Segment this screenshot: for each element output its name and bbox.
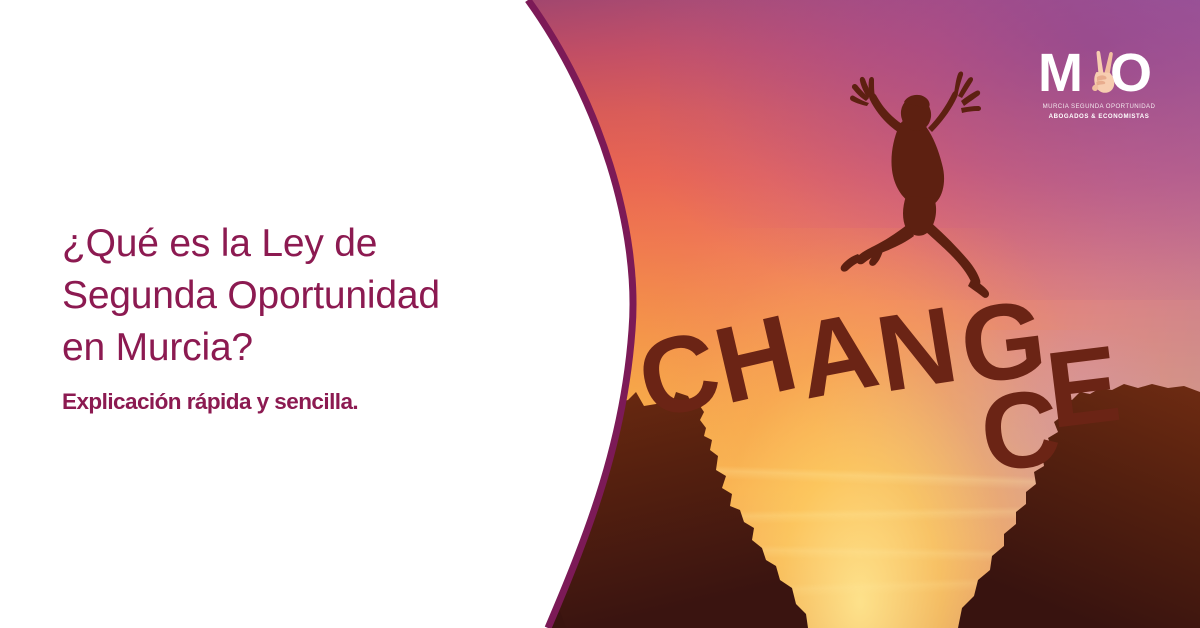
text-panel: ¿Qué es la Ley de Segunda Oportunidad en… — [62, 218, 532, 415]
logo-letter-m: M — [1038, 44, 1083, 100]
logo-tagline-primary: MURCIA SEGUNDA OPORTUNIDAD — [1036, 103, 1162, 110]
page-subtitle: Explicación rápida y sencilla. — [62, 388, 532, 415]
page-title: ¿Qué es la Ley de Segunda Oportunidad en… — [62, 218, 532, 374]
logo-tagline-secondary: ABOGADOS & ECONOMISTAS — [1036, 113, 1162, 120]
divider-stroke — [528, 0, 633, 628]
headline-line-1: ¿Qué es la Ley de — [62, 222, 377, 265]
logo-wordmark-svg: M O — [1036, 44, 1162, 100]
company-logo[interactable]: M O MURCIA SEGUNDA — [1036, 44, 1162, 120]
headline-line-2: Segunda Oportunidad — [62, 274, 440, 317]
logo-letter-o: O — [1110, 44, 1152, 100]
logo-mark: M O — [1036, 44, 1162, 100]
promo-banner: C H A N G E C M O — [0, 0, 1200, 628]
headline-line-3: en Murcia? — [62, 326, 253, 369]
